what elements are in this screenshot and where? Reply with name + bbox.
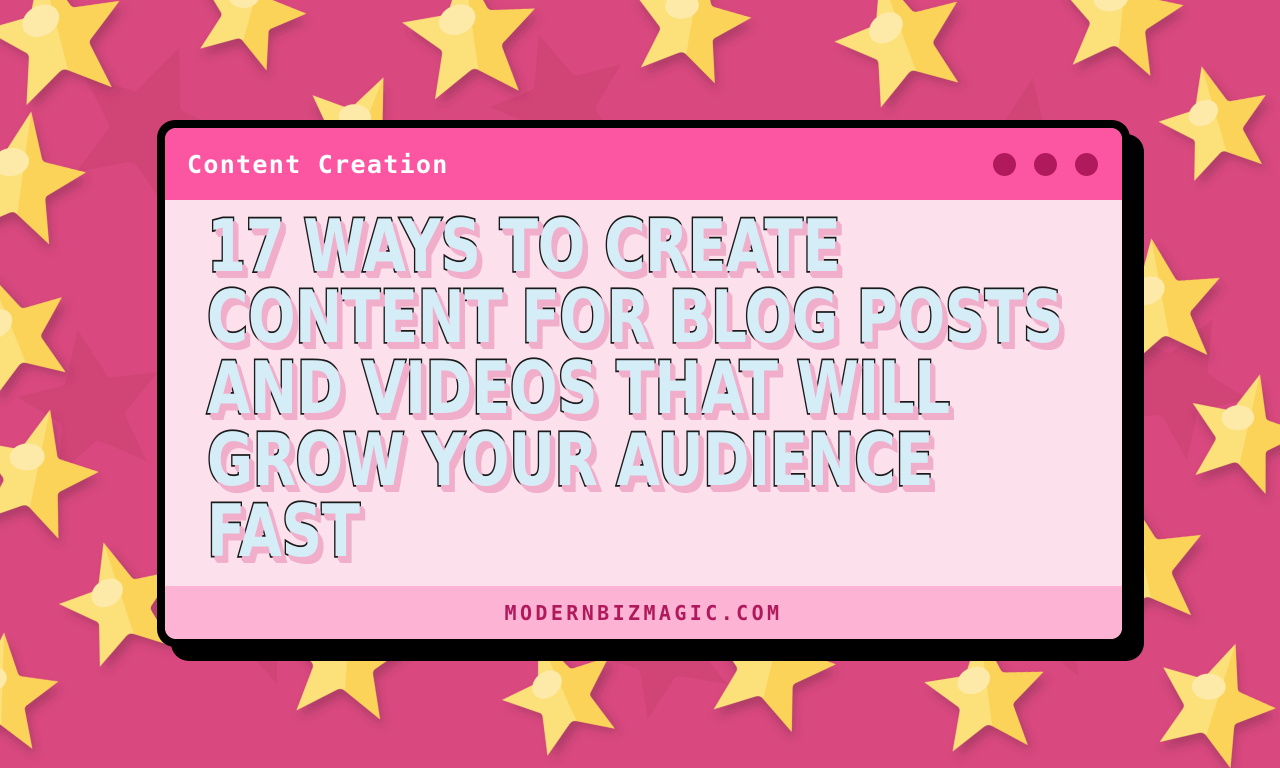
browser-window-card: Content Creation 17 WAYS TO CREATE CONTE… xyxy=(157,120,1130,647)
window-inner: Content Creation 17 WAYS TO CREATE CONTE… xyxy=(165,128,1122,639)
window-close-dot[interactable] xyxy=(1075,153,1098,176)
star-icon xyxy=(1148,53,1280,186)
star-icon xyxy=(0,100,95,248)
star-icon xyxy=(1050,0,1190,79)
window-title-bar: Content Creation xyxy=(165,128,1122,200)
window-controls xyxy=(993,153,1098,176)
window-title: Content Creation xyxy=(187,150,449,179)
window-footer-bar: MODERNBIZMAGIC.COM xyxy=(165,586,1122,639)
star-icon xyxy=(619,0,761,88)
poster-canvas: Content Creation 17 WAYS TO CREATE CONTE… xyxy=(0,0,1280,768)
headline-title: 17 WAYS TO CREATE CONTENT FOR BLOG POSTS… xyxy=(207,211,1081,567)
star-icon xyxy=(0,629,61,750)
star-icon xyxy=(181,0,320,76)
star-icon xyxy=(1139,623,1280,768)
window-maximize-dot[interactable] xyxy=(1034,153,1057,176)
footer-website-url: MODERNBIZMAGIC.COM xyxy=(505,601,783,625)
star-icon xyxy=(397,0,543,102)
window-minimize-dot[interactable] xyxy=(993,153,1016,176)
window-content-area: 17 WAYS TO CREATE CONTENT FOR BLOG POSTS… xyxy=(165,200,1122,586)
star-icon xyxy=(819,0,981,115)
